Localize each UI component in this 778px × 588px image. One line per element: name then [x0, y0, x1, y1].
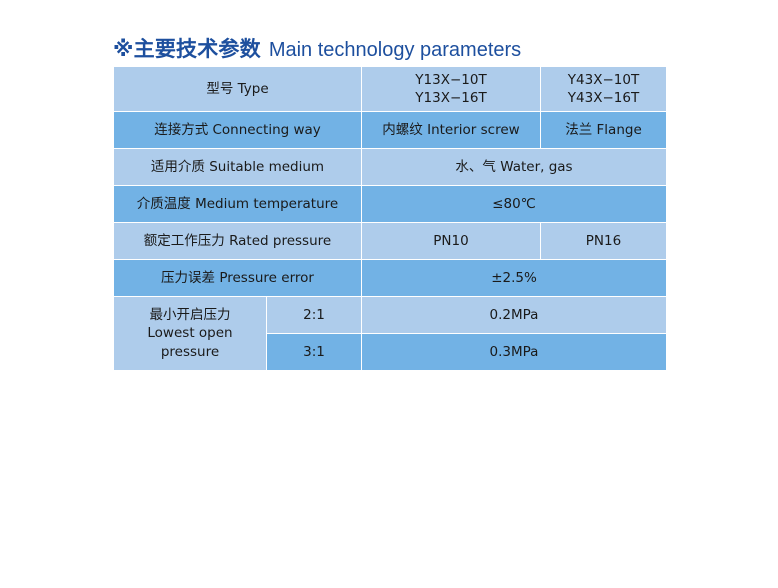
cell-pressure-error-value: ±2.5% — [362, 260, 666, 296]
row-label-lowest-open-pressure: 最小开启压力 Lowest open pressure — [114, 297, 266, 370]
table-row-suitable-medium: 适用介质 Suitable medium 水、气 Water, gas — [114, 149, 666, 185]
header-model-col2-line1: Y13X−10T — [366, 71, 536, 89]
table-row-rated-pressure: 额定工作压力 Rated pressure PN10 PN16 — [114, 223, 666, 259]
cell-medium-temperature-value: ≤80℃ — [362, 186, 666, 222]
specifications-table: 型号 Type Y13X−10T Y13X−16T Y43X−10T Y43X−… — [113, 66, 667, 371]
cell-lowest-open-pressure-ratio-1: 2:1 — [267, 297, 361, 333]
row-label-suitable-medium: 适用介质 Suitable medium — [114, 149, 361, 185]
table-row-pressure-error: 压力误差 Pressure error ±2.5% — [114, 260, 666, 296]
cell-connecting-way-col3: 法兰 Flange — [541, 112, 666, 148]
page-title: ※主要技术参数Main technology parameters — [113, 33, 521, 63]
title-chinese: 主要技术参数 — [134, 37, 261, 61]
cell-lowest-open-pressure-value-1: 0.2MPa — [362, 297, 666, 333]
cell-rated-pressure-col3: PN16 — [541, 223, 666, 259]
cell-connecting-way-col2: 内螺纹 Interior screw — [362, 112, 540, 148]
title-english: Main technology parameters — [269, 39, 521, 61]
header-model-col3-line2: Y43X−16T — [545, 89, 662, 107]
table-row-lowest-open-pressure-2to1: 最小开启压力 Lowest open pressure 2:1 0.2MPa — [114, 297, 666, 333]
title-marker-icon: ※ — [113, 37, 134, 61]
lowest-open-pressure-label-cn: 最小开启压力 — [118, 306, 262, 324]
lowest-open-pressure-label-en-line2: pressure — [118, 343, 262, 361]
lowest-open-pressure-label-en-line1: Lowest open — [118, 324, 262, 342]
table-row-medium-temperature: 介质温度 Medium temperature ≤80℃ — [114, 186, 666, 222]
cell-lowest-open-pressure-value-2: 0.3MPa — [362, 334, 666, 370]
row-label-medium-temperature: 介质温度 Medium temperature — [114, 186, 361, 222]
slide-canvas: ※主要技术参数Main technology parameters 型号 Typ… — [0, 0, 778, 588]
cell-suitable-medium-value: 水、气 Water, gas — [362, 149, 666, 185]
header-model-col2-line2: Y13X−16T — [366, 89, 536, 107]
header-model-col2: Y13X−10T Y13X−16T — [362, 67, 540, 111]
row-label-rated-pressure: 额定工作压力 Rated pressure — [114, 223, 361, 259]
table-row-type: 型号 Type Y13X−10T Y13X−16T Y43X−10T Y43X−… — [114, 67, 666, 111]
table-row-connecting-way: 连接方式 Connecting way 内螺纹 Interior screw 法… — [114, 112, 666, 148]
cell-lowest-open-pressure-ratio-2: 3:1 — [267, 334, 361, 370]
header-model-col3: Y43X−10T Y43X−16T — [541, 67, 666, 111]
row-label-type: 型号 Type — [114, 67, 361, 111]
row-label-pressure-error: 压力误差 Pressure error — [114, 260, 361, 296]
row-label-connecting-way: 连接方式 Connecting way — [114, 112, 361, 148]
cell-rated-pressure-col2: PN10 — [362, 223, 540, 259]
header-model-col3-line1: Y43X−10T — [545, 71, 662, 89]
